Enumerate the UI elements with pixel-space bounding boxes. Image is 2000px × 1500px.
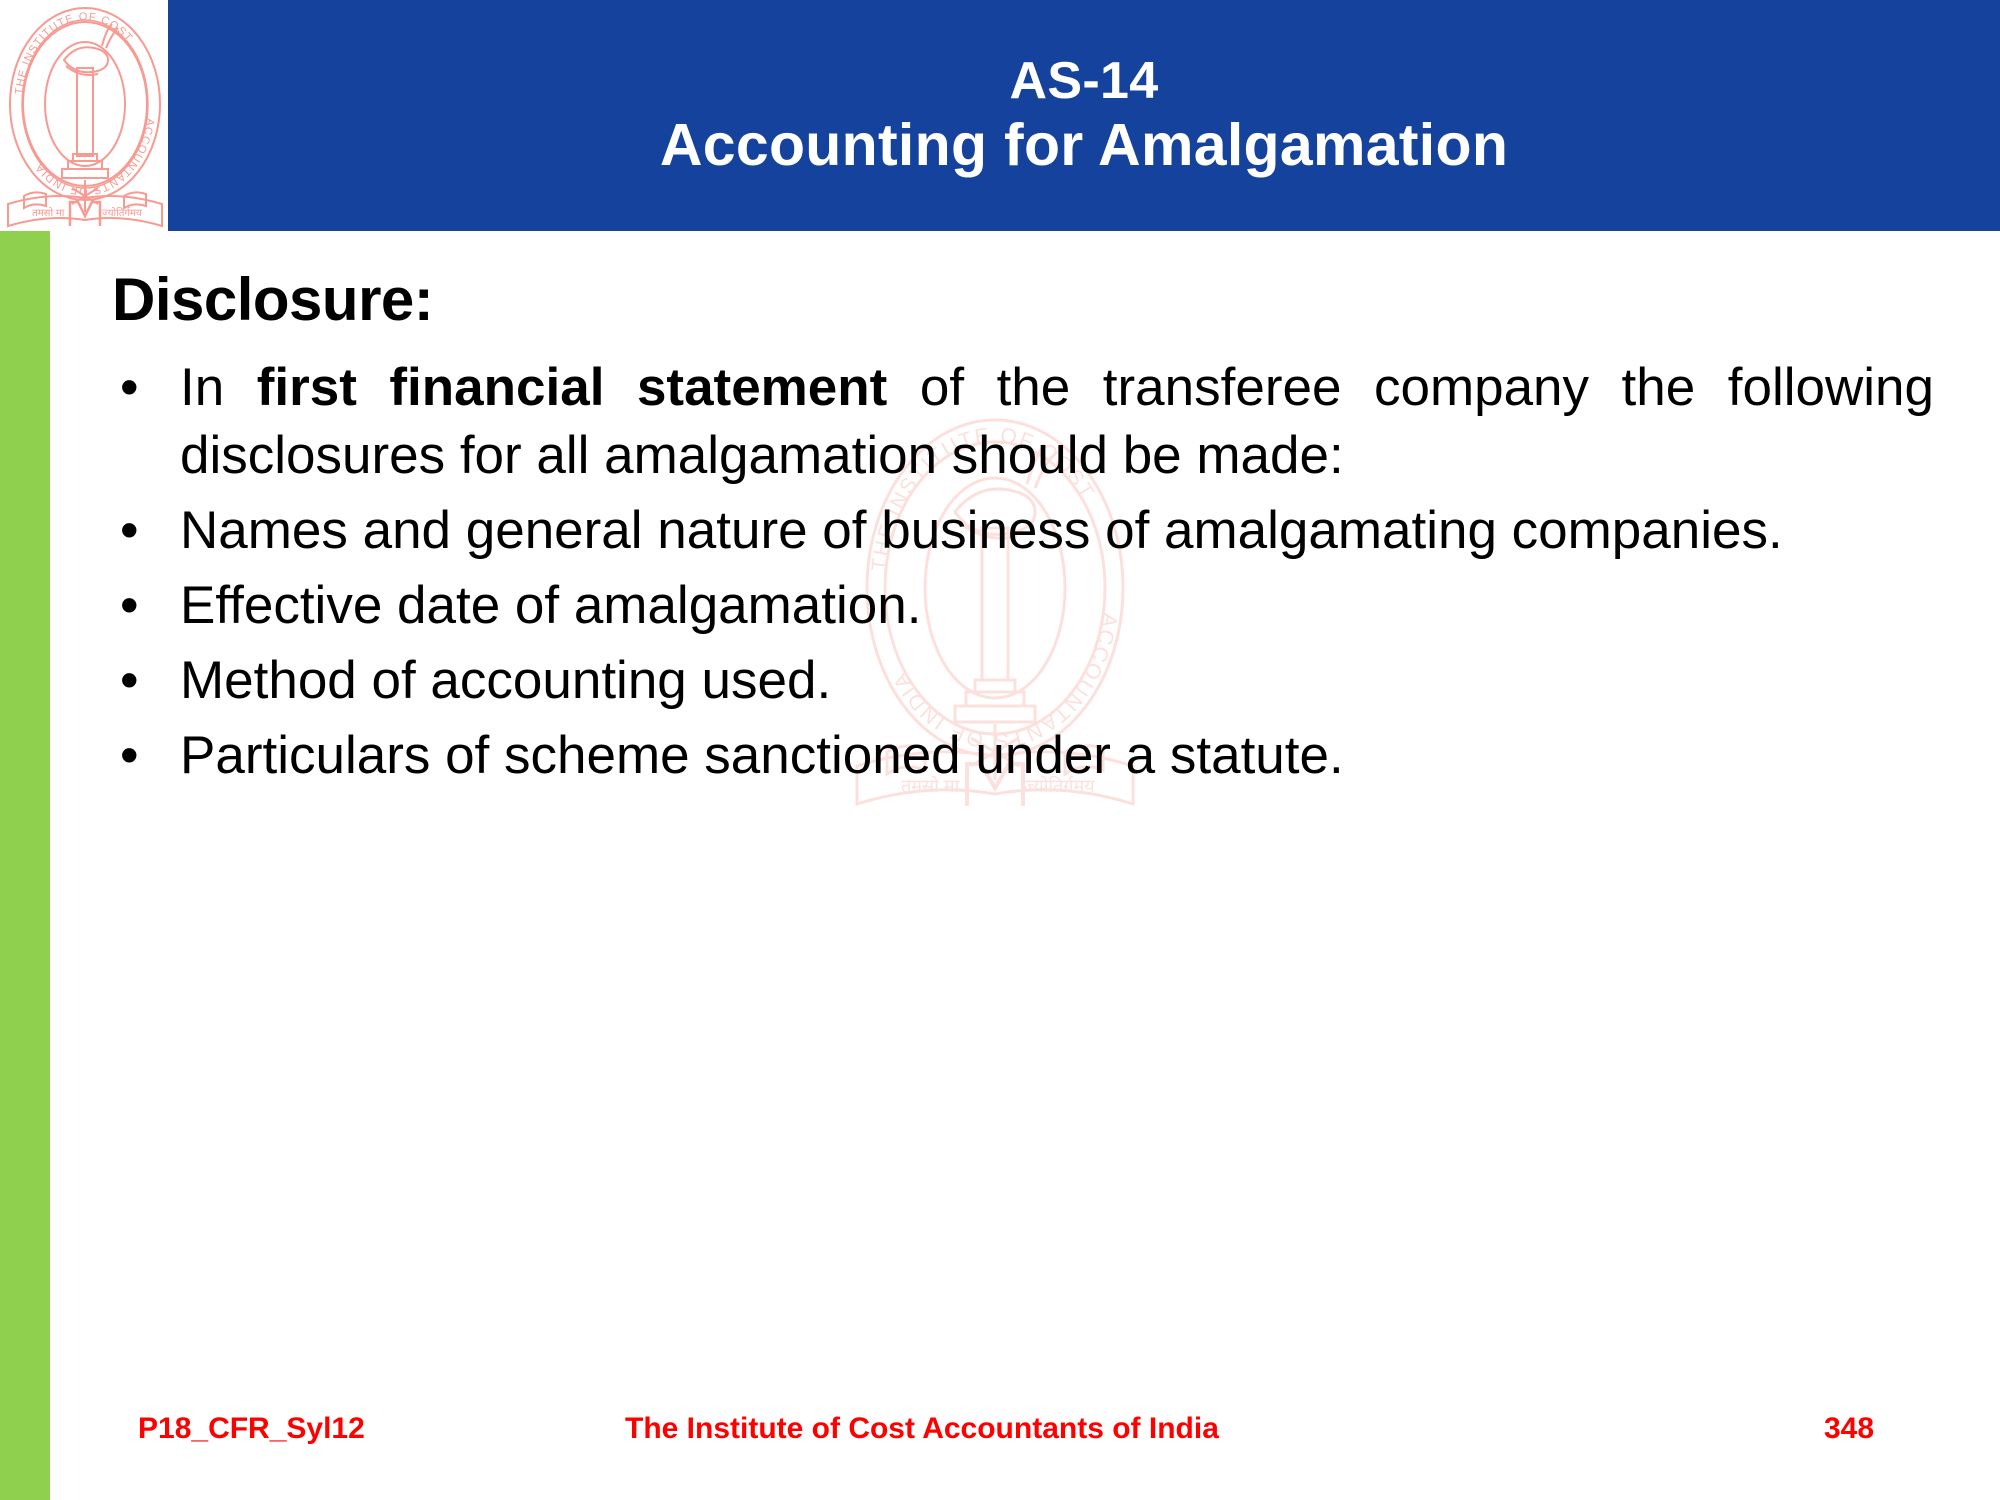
list-item: • Names and general nature of business o… bbox=[112, 497, 1934, 566]
list-item-text: Method of accounting used. bbox=[180, 647, 1934, 716]
bullet-marker-icon: • bbox=[112, 572, 180, 641]
list-item-text: Effective date of amalgamation. bbox=[180, 572, 1934, 641]
list-item-text: In first financial statement of the tran… bbox=[180, 354, 1934, 492]
list-item: • Particulars of scheme sanctioned under… bbox=[112, 722, 1934, 791]
footer-institute-name: The Institute of Cost Accountants of Ind… bbox=[625, 1412, 1219, 1446]
list-item-text: Particulars of scheme sanctioned under a… bbox=[180, 722, 1934, 791]
left-green-accent-band bbox=[0, 231, 50, 1500]
page-title: Accounting for Amalgamation bbox=[660, 112, 1508, 179]
svg-text:ACCOUNTANTS OF INDIA: ACCOUNTANTS OF INDIA bbox=[33, 117, 156, 197]
list-item: • Effective date of amalgamation. bbox=[112, 572, 1934, 641]
svg-text:ज्योतिर्गमय: ज्योतिर्गमय bbox=[102, 207, 142, 219]
slide-footer: P18_CFR_Syl12 The Institute of Cost Acco… bbox=[0, 1408, 2000, 1468]
svg-text:THE INSTITUTE OF COST: THE INSTITUTE OF COST bbox=[13, 11, 135, 95]
bullet-marker-icon: • bbox=[112, 497, 180, 566]
bullet-marker-icon: • bbox=[112, 647, 180, 716]
list-item-text: Names and general nature of business of … bbox=[180, 497, 1934, 566]
institute-logo-icon: तमसो मा ज्योतिर्गमय THE INSTITUTE OF COS… bbox=[2, 0, 168, 233]
slide-title-bar: AS-14 Accounting for Amalgamation bbox=[168, 0, 2000, 231]
list-item: • In first financial statement of the tr… bbox=[112, 354, 1934, 492]
footer-page-number: 348 bbox=[1824, 1412, 1874, 1446]
footer-subject-code: P18_CFR_Syl12 bbox=[138, 1412, 365, 1446]
standard-code: AS-14 bbox=[1010, 52, 1159, 111]
bullet-marker-icon: • bbox=[112, 354, 180, 423]
bullet-marker-icon: • bbox=[112, 722, 180, 791]
list-item: • Method of accounting used. bbox=[112, 647, 1934, 716]
slide-body: Disclosure: • In first financial stateme… bbox=[112, 268, 1934, 1348]
section-heading: Disclosure: bbox=[112, 268, 1934, 332]
svg-text:तमसो मा: तमसो मा bbox=[32, 207, 65, 219]
